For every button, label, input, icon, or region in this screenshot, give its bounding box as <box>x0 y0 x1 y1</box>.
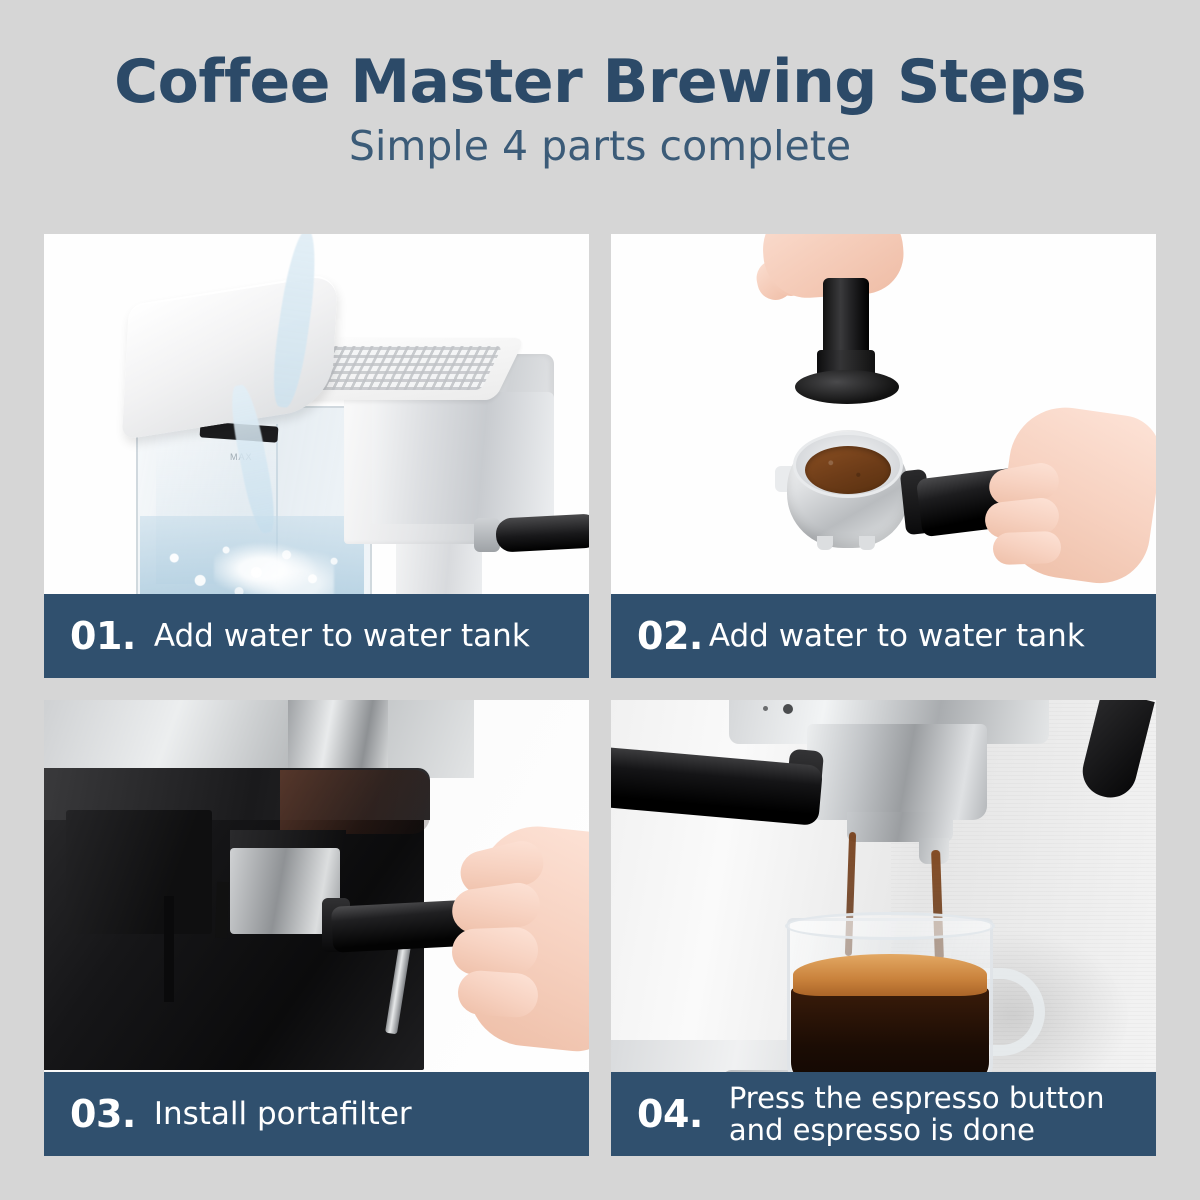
portafilter-bowl <box>807 724 987 820</box>
infographic-page: Coffee Master Brewing Steps Simple 4 par… <box>0 0 1200 1200</box>
step-panel-03[interactable]: 03. Install portafilter <box>44 700 589 1156</box>
steps-grid: MAX 01. Add water to water tank <box>44 234 1156 1156</box>
tamper-base <box>795 370 899 404</box>
page-title: Coffee Master Brewing Steps <box>0 0 1200 113</box>
crema <box>793 954 987 996</box>
step-04-caption: 04. Press the espresso buttonand espress… <box>611 1072 1156 1156</box>
step-04-text-line2: and espresso is done <box>729 1113 1035 1147</box>
step-panel-02[interactable]: 02. Add water to water tank <box>611 234 1156 678</box>
step-04-text: Press the espresso buttonand espresso is… <box>729 1082 1156 1147</box>
step-03-text: Install portafilter <box>154 1097 589 1132</box>
coffee-grounds <box>805 446 891 494</box>
step-02-number: 02. <box>637 614 703 658</box>
page-subtitle: Simple 4 parts complete <box>0 113 1200 168</box>
step-01-text: Add water to water tank <box>154 619 589 654</box>
step-01-caption: 01. Add water to water tank <box>44 594 589 678</box>
step-02-text: Add water to water tank <box>709 619 1156 654</box>
step-panel-04[interactable]: 04. Press the espresso buttonand espress… <box>611 700 1156 1156</box>
page-header: Coffee Master Brewing Steps Simple 4 par… <box>0 0 1200 168</box>
step-panel-01[interactable]: MAX 01. Add water to water tank <box>44 234 589 678</box>
portafilter-handle <box>495 513 589 552</box>
step-02-caption: 02. Add water to water tank <box>611 594 1156 678</box>
step-03-caption: 03. Install portafilter <box>44 1072 589 1156</box>
step-04-number: 04. <box>637 1092 703 1136</box>
step-04-text-line1: Press the espresso button <box>729 1081 1105 1115</box>
step-01-number: 01. <box>70 614 136 658</box>
machine-column <box>288 700 388 776</box>
step-03-number: 03. <box>70 1092 136 1136</box>
